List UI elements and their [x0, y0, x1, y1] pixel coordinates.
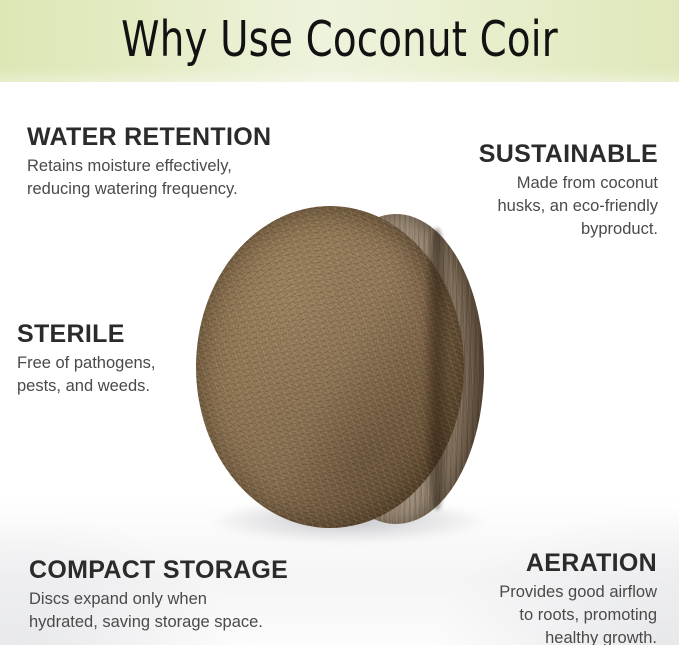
feature-title-sterile: STERILE	[17, 320, 156, 348]
infographic-canvas: Why Use Coconut Coir WATER RETENTION Ret…	[0, 0, 679, 645]
feature-aeration: AERATION Provides good airflow to roots,…	[499, 549, 657, 645]
feature-sterile: STERILE Free of pathogens, pests, and we…	[17, 320, 156, 398]
page-title: Why Use Coconut Coir	[41, 0, 639, 82]
feature-sustainable: SUSTAINABLE Made from coconut husks, an …	[479, 140, 658, 240]
feature-description-aeration: Provides good airflow to roots, promotin…	[499, 581, 657, 645]
feature-title-water-retention: WATER RETENTION	[27, 123, 271, 151]
feature-description-compact-storage: Discs expand only when hydrated, saving …	[29, 588, 288, 634]
feature-description-sterile: Free of pathogens, pests, and weeds.	[17, 352, 156, 398]
feature-description-water-retention: Retains moisture effectively, reducing w…	[27, 155, 271, 201]
feature-title-compact-storage: COMPACT STORAGE	[29, 556, 288, 584]
coir-disc-image	[196, 206, 496, 546]
header-band: Why Use Coconut Coir	[0, 0, 679, 82]
feature-title-aeration: AERATION	[499, 549, 657, 577]
feature-water-retention: WATER RETENTION Retains moisture effecti…	[27, 123, 271, 201]
disc-rim-seam	[424, 228, 450, 510]
feature-description-sustainable: Made from coconut husks, an eco-friendly…	[479, 172, 658, 240]
feature-compact-storage: COMPACT STORAGE Discs expand only when h…	[29, 556, 288, 634]
feature-title-sustainable: SUSTAINABLE	[479, 140, 658, 168]
